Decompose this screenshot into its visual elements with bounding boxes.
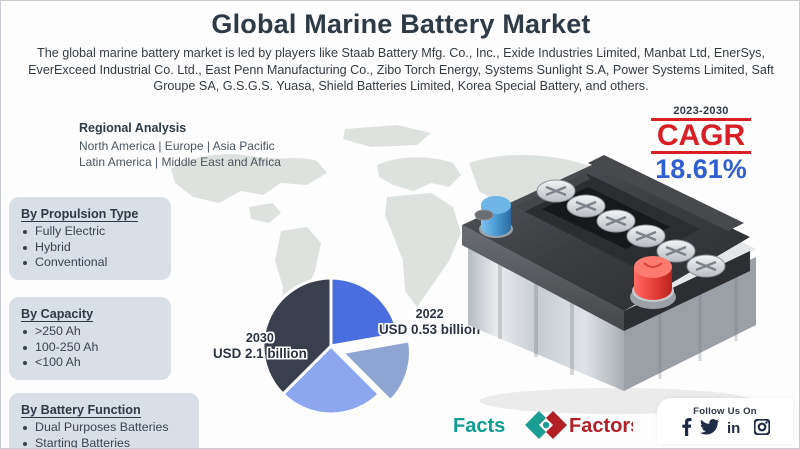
regional-analysis-line-1: North America | Europe | Asia Pacific [79,138,281,154]
page-description: The global marine battery market is led … [25,45,777,95]
segment-list: Dual Purposes Batteries Starting Batteri… [21,420,187,449]
twitter-icon[interactable] [700,419,719,435]
cell-cap [597,210,635,232]
list-item: Starting Batteries [21,436,187,449]
list-item: Fully Electric [21,224,159,240]
segment-heading: By Propulsion Type [21,207,138,222]
battery-positive-terminal [630,256,676,309]
segment-box-propulsion-type: By Propulsion Type Fully Electric Hybrid… [9,197,171,280]
infographic-root: Global Marine Battery Market The global … [0,0,800,449]
regional-analysis-title: Regional Analysis [79,121,281,135]
market-size-pie-chart: 2022 USD 0.53 billion 2030 USD 2.1 billi… [251,253,451,443]
segment-box-capacity: By Capacity >250 Ah 100-250 Ah <100 Ah [9,297,171,380]
regional-analysis-line-2: Latin America | Middle East and Africa [79,154,281,170]
logo-text-facts: Facts [453,415,505,437]
cell-cap [537,180,575,202]
segment-list: Fully Electric Hybrid Conventional [21,224,159,271]
list-item: Hybrid [21,240,159,256]
list-item: 100-250 Ah [21,340,159,356]
regional-analysis-block: Regional Analysis North America | Europe… [79,121,281,170]
list-item: <100 Ah [21,355,159,371]
instagram-icon[interactable] [754,419,770,435]
pie-label-2030-value: USD 2.1 billion [213,346,307,361]
marine-battery-illustration [438,129,768,419]
cell-cap [687,255,725,277]
social-icon-list: in [681,418,770,436]
facebook-icon[interactable] [681,418,692,436]
linkedin-icon[interactable]: in [727,419,746,435]
logo-text-factors: Factors [569,415,633,437]
battery-vent-indicator [475,210,493,220]
facts-and-factors-logo: Facts Factors [453,405,633,445]
list-item: >250 Ah [21,324,159,340]
logo-diamond-icon [525,411,567,439]
segment-heading: By Battery Function [21,403,141,418]
svg-text:in: in [727,420,740,435]
page-title: Global Marine Battery Market [1,9,800,40]
segment-box-battery-function: By Battery Function Dual Purposes Batter… [9,393,199,449]
social-follow-title: Follow Us On [693,406,757,417]
segment-heading: By Capacity [21,307,93,322]
cell-cap [567,195,605,217]
list-item: Dual Purposes Batteries [21,420,187,436]
list-item: Conventional [21,255,159,271]
cell-cap [627,225,665,247]
cagr-years: 2023-2030 [621,105,781,117]
segment-list: >250 Ah 100-250 Ah <100 Ah [21,324,159,371]
pie-label-2030: 2030 USD 2.1 billion [213,331,307,361]
pie-label-2030-year: 2030 [213,331,307,346]
social-follow-block: Follow Us On in [657,398,793,444]
